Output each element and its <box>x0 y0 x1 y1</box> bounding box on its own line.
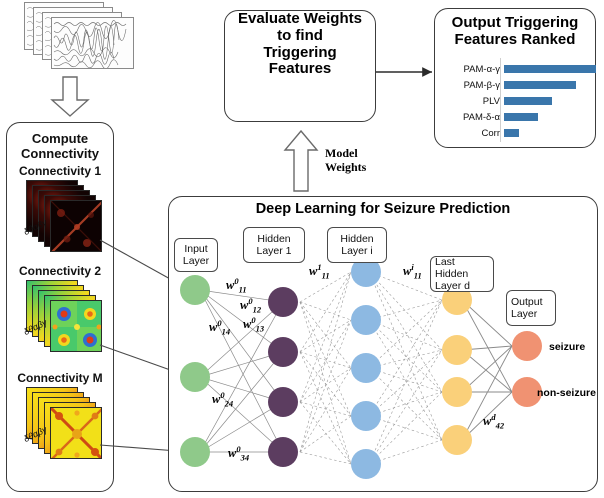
weight-label-w012: w012 <box>240 296 261 315</box>
hidden-layer-i-node <box>351 401 381 431</box>
chart-row: PAM-α-γ <box>436 62 596 76</box>
chart-category-label: PLV <box>436 96 504 107</box>
hidden-layer-i-node <box>351 449 381 479</box>
evaluate-line-2: to find <box>225 28 375 45</box>
output-layer-tag-line-1: Output <box>511 296 543 308</box>
evaluate-line-4: Features <box>225 61 375 78</box>
model-weights-up-arrow <box>283 130 319 192</box>
matrix-sheet-front <box>50 200 102 252</box>
hidden-layer-i-tag: Hidden Layer i <box>327 227 387 263</box>
connectivity-m-matrix-stack <box>26 387 102 459</box>
hidden-layer-1-tag: Hidden Layer 1 <box>243 227 305 263</box>
hidden-layer-i-tag-line-2: Layer i <box>340 245 373 257</box>
last-hidden-tag-line-2: Layer d <box>435 280 489 292</box>
output-node-seizure <box>512 331 542 361</box>
output-layer-tag-line-2: Layer <box>511 308 543 320</box>
chart-category-label: Corr <box>436 128 504 139</box>
input-node <box>180 275 210 305</box>
last-hidden-tag-line-1: Last Hidden <box>435 256 489 280</box>
connectivity-m-label: Connectivity M <box>6 371 114 385</box>
evaluate-weights-box: Evaluate Weights to find Triggering Feat… <box>224 10 376 122</box>
chart-bar <box>504 129 519 137</box>
hidden-layer-1-node <box>268 287 298 317</box>
input-layer-tag-line-1: Input <box>183 243 209 255</box>
output-title-line-1: Output Triggering <box>434 15 596 32</box>
weight-label-w111: w111 <box>309 262 330 281</box>
output-label-seizure: seizure <box>549 341 585 353</box>
last-hidden-layer-tag: Last Hidden Layer d <box>430 256 494 292</box>
hidden-layer-1-node <box>268 437 298 467</box>
last-hidden-layer-node <box>442 425 472 455</box>
chart-category-label: PAM-α-γ <box>436 64 504 75</box>
input-layer-tag: Input Layer <box>174 238 218 272</box>
chart-bar <box>504 81 576 89</box>
last-hidden-layer-node <box>442 335 472 365</box>
model-weights-label: Model Weights <box>325 146 366 175</box>
chart-category-label: PAM-β-γ <box>436 80 504 91</box>
figure-canvas: Compute Connectivity Connectivity 1 δθαβ… <box>0 0 604 498</box>
hidden-layer-1-node <box>268 387 298 417</box>
chart-category-label: PAM-δ-α <box>436 112 504 123</box>
hidden-layer-i-node <box>351 305 381 335</box>
output-title-line-2: Features Ranked <box>434 32 596 49</box>
connectivity-2-label: Connectivity 2 <box>6 264 114 278</box>
hidden-layer-1-node <box>268 337 298 367</box>
chart-row: PAM-δ-α <box>436 110 538 124</box>
chart-bar <box>504 65 596 73</box>
model-weights-line-2: Weights <box>325 160 366 174</box>
weight-label-w013: w013 <box>243 315 264 334</box>
output-box-title: Output Triggering Features Ranked <box>434 15 596 49</box>
model-weights-line-1: Model <box>325 146 366 160</box>
input-node <box>180 437 210 467</box>
evaluate-line-3: Triggering <box>225 45 375 62</box>
matrix-sheet-front <box>50 300 102 352</box>
weight-label-w014: w014 <box>209 318 230 337</box>
weight-label-w024: w024 <box>212 390 233 409</box>
eeg-page-front <box>51 17 134 69</box>
output-layer-tag: Output Layer <box>506 290 556 326</box>
compute-connectivity-heading-line1: Compute <box>6 131 114 146</box>
chart-bar <box>504 113 538 121</box>
features-ranked-bar-chart: PAM-α-γ PAM-β-γ PLV PAM-δ-α Corr <box>436 58 594 143</box>
weight-label-wi11: wi11 <box>403 262 422 281</box>
hidden-layer-1-tag-line-1: Hidden <box>256 233 291 245</box>
input-layer-tag-line-2: Layer <box>183 255 209 267</box>
weight-label-wd42: wd42 <box>483 412 504 431</box>
last-hidden-layer-node <box>442 377 472 407</box>
matrix-sheet-front <box>50 407 102 459</box>
evaluate-line-1: Evaluate Weights <box>225 11 375 28</box>
chart-row: Corr <box>436 126 519 140</box>
hidden-layer-i-node <box>351 353 381 383</box>
chart-bar <box>504 97 552 105</box>
output-label-non-seizure: non-seizure <box>537 387 596 399</box>
input-node <box>180 362 210 392</box>
compute-connectivity-heading-line2: Connectivity <box>6 146 114 161</box>
eeg-recordings-stack <box>24 2 134 72</box>
hidden-layer-1-tag-line-2: Layer 1 <box>256 245 291 257</box>
down-arrow-to-connectivity <box>48 76 92 118</box>
chart-row: PAM-β-γ <box>436 78 576 92</box>
connectivity-1-label: Connectivity 1 <box>6 164 114 178</box>
chart-row: PLV <box>436 94 552 108</box>
connectivity-1-matrix-stack <box>26 180 102 252</box>
network-panel-title: Deep Learning for Seizure Prediction <box>168 201 598 217</box>
connectivity-2-matrix-stack <box>26 280 102 352</box>
hidden-layer-i-tag-line-1: Hidden <box>340 233 373 245</box>
weight-label-w011: w011 <box>226 276 247 295</box>
weight-label-w034: w034 <box>228 444 249 463</box>
